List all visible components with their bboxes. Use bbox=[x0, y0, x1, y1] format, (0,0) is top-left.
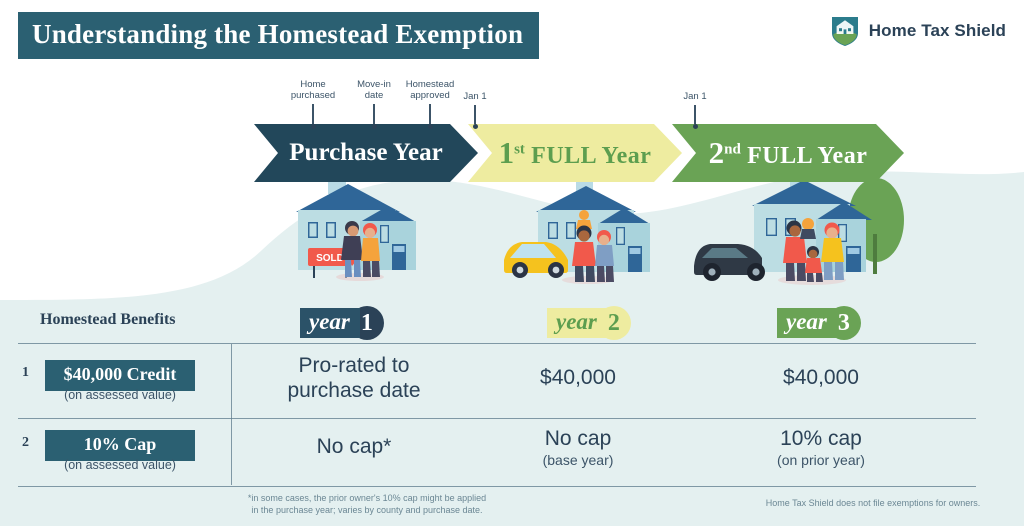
scene-year-1-illustration: SOLD bbox=[276, 178, 476, 290]
svg-text:SOLD: SOLD bbox=[316, 253, 344, 264]
table-cell-row1-year2: $40,000 bbox=[470, 366, 686, 391]
table-divider-mid bbox=[18, 418, 976, 419]
marker-dot bbox=[311, 124, 316, 129]
timeline-banner-label: Purchase Year bbox=[289, 139, 442, 167]
year-badge-1: year 1 bbox=[300, 306, 384, 340]
marker-dot bbox=[372, 124, 377, 129]
benefit-pill-2: 10% Cap bbox=[45, 430, 195, 461]
timeline-marker-label: Homestead approved bbox=[396, 79, 464, 101]
marker-stem bbox=[474, 105, 476, 124]
table-cell-row2-year3: 10% cap (on prior year) bbox=[700, 427, 942, 468]
table-cell-row1-year3: $40,000 bbox=[700, 366, 942, 391]
year-badge-2: year 2 bbox=[547, 306, 631, 340]
banner-rest-text: FULL Year bbox=[531, 143, 651, 169]
page-title: Understanding the Homestead Exemption bbox=[18, 12, 539, 59]
marker-stem bbox=[312, 104, 314, 124]
benefit-pill-1: $40,000 Credit bbox=[45, 360, 195, 391]
infographic-canvas: Understanding the Homestead Exemption Ho… bbox=[0, 0, 1024, 526]
timeline-banner-label: 1st FULL Year bbox=[499, 137, 652, 170]
table-divider-bottom bbox=[18, 486, 976, 487]
marker-dot bbox=[693, 124, 698, 129]
marker-dot bbox=[428, 124, 433, 129]
marker-stem bbox=[429, 104, 431, 124]
scene-year-2-illustration bbox=[498, 182, 684, 290]
timeline-marker-move-in-date: Move-in date bbox=[349, 79, 399, 129]
timeline-marker-label: Jan 1 bbox=[675, 91, 715, 102]
banner-rest-text: FULL Year bbox=[747, 143, 867, 169]
table-divider-top bbox=[18, 343, 976, 344]
brand-logo[interactable]: Home Tax Shield bbox=[830, 14, 1006, 48]
cell-sub-text: (base year) bbox=[470, 452, 686, 469]
brand-logo-text: Home Tax Shield bbox=[869, 21, 1006, 41]
timeline-marker-home-purchased: Home purchased bbox=[282, 79, 344, 129]
marker-dot bbox=[473, 124, 478, 129]
year-badge-tag: year bbox=[300, 308, 360, 338]
cell-main-text: No cap* bbox=[246, 435, 462, 460]
table-heading: Homestead Benefits bbox=[40, 311, 176, 329]
cell-sub-text: (on prior year) bbox=[700, 452, 942, 469]
marker-stem bbox=[694, 105, 696, 124]
table-divider-vertical bbox=[231, 344, 232, 485]
cell-main-text: $40,000 bbox=[470, 366, 686, 391]
year-badge-tag: year bbox=[777, 308, 837, 338]
cell-main-text: $40,000 bbox=[700, 366, 942, 391]
timeline-banner-first-full-year[interactable]: 1st FULL Year bbox=[468, 124, 682, 182]
marker-stem bbox=[373, 104, 375, 124]
timeline-marker-homestead-approved: Homestead approved bbox=[396, 79, 464, 129]
timeline-marker-jan-1-first: Jan 1 bbox=[455, 91, 495, 129]
timeline-marker-label: Jan 1 bbox=[455, 91, 495, 102]
shield-house-icon bbox=[830, 14, 860, 48]
page-title-text: Understanding the Homestead Exemption bbox=[32, 19, 523, 49]
footnote-right: Home Tax Shield does not file exemptions… bbox=[742, 497, 1004, 509]
timeline-marker-label: Home purchased bbox=[282, 79, 344, 101]
year-badge-tag: year bbox=[547, 308, 607, 338]
table-row-number-1: 1 bbox=[22, 365, 29, 381]
cell-main-text: 10% cap bbox=[700, 427, 942, 452]
timeline-banner-label: 2nd FULL Year bbox=[709, 137, 868, 170]
banner-ordinal-suffix: nd bbox=[724, 141, 741, 157]
benefit-pill-1-sub: (on assessed value) bbox=[40, 388, 200, 402]
cell-main-text: No cap bbox=[470, 427, 686, 452]
table-row-number-2: 2 bbox=[22, 435, 29, 451]
banner-ordinal-number: 2 bbox=[709, 135, 725, 170]
footnote-left: *in some cases, the prior owner's 10% ca… bbox=[232, 492, 502, 516]
timeline-marker-label: Move-in date bbox=[349, 79, 399, 101]
cell-main-text: Pro-rated to purchase date bbox=[246, 354, 462, 404]
banner-ordinal-number: 1 bbox=[499, 135, 515, 170]
benefit-pill-2-sub: (on assessed value) bbox=[40, 458, 200, 472]
year-badge-3: year 3 bbox=[777, 306, 861, 340]
timeline-marker-jan-1-second: Jan 1 bbox=[675, 91, 715, 129]
table-cell-row2-year1: No cap* bbox=[246, 435, 462, 460]
banner-ordinal-suffix: st bbox=[514, 141, 525, 157]
scene-year-3-illustration bbox=[686, 172, 924, 292]
table-cell-row2-year2: No cap (base year) bbox=[470, 427, 686, 468]
table-cell-row1-year1: Pro-rated to purchase date bbox=[246, 354, 462, 404]
timeline-banner-second-full-year[interactable]: 2nd FULL Year bbox=[672, 124, 904, 182]
timeline-banner-purchase-year[interactable]: Purchase Year bbox=[254, 124, 478, 182]
